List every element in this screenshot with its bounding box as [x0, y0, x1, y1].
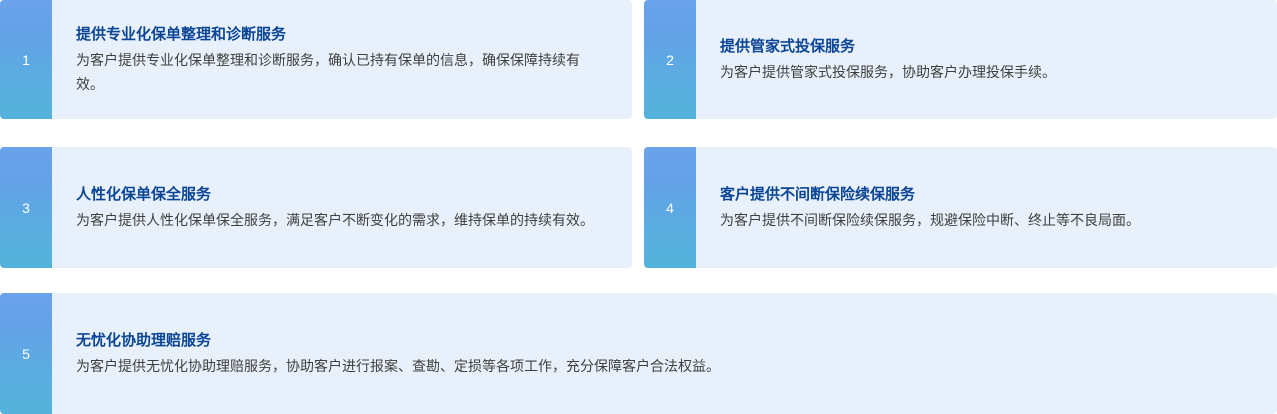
card-body-1: 提供专业化保单整理和诊断服务 为客户提供专业化保单整理和诊断服务，确认已持有保单…	[52, 0, 632, 119]
card-body-4: 客户提供不间断保险续保服务 为客户提供不间断保险续保服务，规避保险中断、终止等不…	[696, 147, 1277, 268]
card-title-1: 提供专业化保单整理和诊断服务	[76, 24, 612, 46]
card-number-badge-2: 2	[644, 0, 696, 119]
card-body-3: 人性化保单保全服务 为客户提供人性化保单保全服务，满足客户不断变化的需求，维持保…	[52, 147, 632, 268]
card-title-5: 无忧化协助理赔服务	[76, 330, 1257, 352]
service-card-3[interactable]: 3 人性化保单保全服务 为客户提供人性化保单保全服务，满足客户不断变化的需求，维…	[0, 147, 632, 268]
card-description-3: 为客户提供人性化保单保全服务，满足客户不断变化的需求，维持保单的持续有效。	[76, 208, 612, 232]
card-title-2: 提供管家式投保服务	[720, 36, 1257, 58]
card-title-3: 人性化保单保全服务	[76, 184, 612, 206]
card-description-2: 为客户提供管家式投保服务，协助客户办理投保手续。	[720, 60, 1257, 84]
card-description-1: 为客户提供专业化保单整理和诊断服务，确认已持有保单的信息，确保保障持续有效。	[76, 48, 606, 96]
service-card-4[interactable]: 4 客户提供不间断保险续保服务 为客户提供不间断保险续保服务，规避保险中断、终止…	[644, 147, 1277, 268]
card-body-2: 提供管家式投保服务 为客户提供管家式投保服务，协助客户办理投保手续。	[696, 0, 1277, 119]
card-body-5: 无忧化协助理赔服务 为客户提供无忧化协助理赔服务，协助客户进行报案、查勘、定损等…	[52, 293, 1277, 414]
card-number-badge-3: 3	[0, 147, 52, 268]
service-card-1[interactable]: 1 提供专业化保单整理和诊断服务 为客户提供专业化保单整理和诊断服务，确认已持有…	[0, 0, 632, 119]
card-number-badge-5: 5	[0, 293, 52, 414]
card-title-4: 客户提供不间断保险续保服务	[720, 184, 1257, 206]
service-card-2[interactable]: 2 提供管家式投保服务 为客户提供管家式投保服务，协助客户办理投保手续。	[644, 0, 1277, 119]
service-cards-diagram: 1 提供专业化保单整理和诊断服务 为客户提供专业化保单整理和诊断服务，确认已持有…	[0, 0, 1277, 414]
card-description-4: 为客户提供不间断保险续保服务，规避保险中断、终止等不良局面。	[720, 208, 1257, 232]
card-number-badge-1: 1	[0, 0, 52, 119]
card-number-badge-4: 4	[644, 147, 696, 268]
service-card-5[interactable]: 5 无忧化协助理赔服务 为客户提供无忧化协助理赔服务，协助客户进行报案、查勘、定…	[0, 293, 1277, 414]
card-description-5: 为客户提供无忧化协助理赔服务，协助客户进行报案、查勘、定损等各项工作，充分保障客…	[76, 354, 1257, 378]
